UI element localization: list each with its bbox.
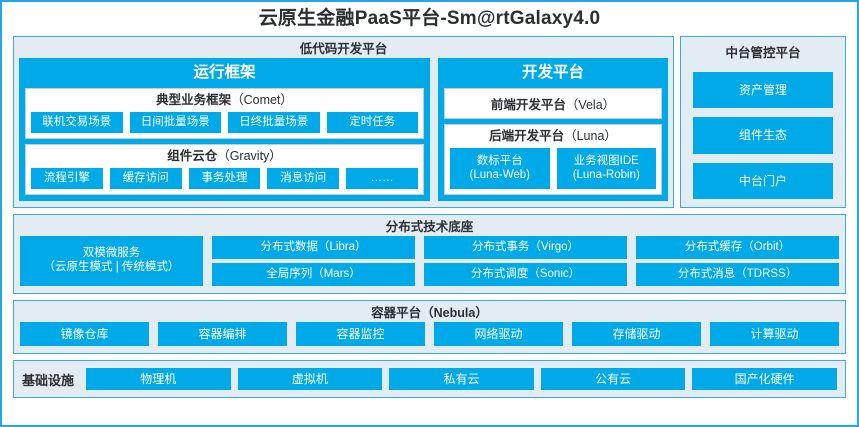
distributed-column-3: 分布式缓存（Orbit） 分布式消息（TDRSS） (636, 236, 839, 286)
backend-platform-title-cn: 后端开发平台 (489, 129, 564, 143)
container-item-storage-driver[interactable]: 存储驱动 (572, 322, 701, 346)
development-platform-panel: 开发平台 前端开发平台（Vela） 后端开发平台（Luna） 数标平台 (Lun… (438, 58, 668, 201)
development-platform-title: 开发平台 (444, 62, 662, 83)
comet-group: 典型业务框架（Comet） 联机交易场景 日间批量场景 日终批量场景 定时任务 (25, 88, 424, 139)
page-title: 云原生金融PaaS平台-Sm@rtGalaxy4.0 (2, 2, 857, 36)
midplatform-title: 中台管控平台 (693, 43, 833, 63)
distributed-cache-label: 分布式缓存（Orbit） (685, 241, 790, 255)
gravity-group-title-cn: 组件云仓 (167, 149, 217, 163)
comet-chip[interactable]: 定时任务 (327, 112, 419, 133)
midplatform-item-asset-management[interactable]: 资产管理 (693, 72, 833, 108)
lowcode-platform-title: 低代码开发平台 (19, 40, 668, 58)
luna-web-chip-en: (Luna-Web) (469, 169, 530, 183)
infrastructure-chip-row: 物理机 虚拟机 私有云 公有云 国产化硬件 (86, 368, 837, 390)
distributed-data-label: 分布式数据（Libra） (260, 241, 366, 255)
luna-robin-chip[interactable]: 业务视图IDE (Luna-Robin) (557, 148, 657, 189)
comet-chip[interactable]: 日间批量场景 (130, 112, 222, 133)
midplatform-item-component-ecosystem[interactable]: 组件生态 (693, 117, 833, 153)
infrastructure-item-public-cloud[interactable]: 公有云 (541, 368, 686, 390)
architecture-diagram: 云原生金融PaaS平台-Sm@rtGalaxy4.0 低代码开发平台 运行框架 … (0, 0, 859, 427)
midplatform-item-portal[interactable]: 中台门户 (693, 163, 833, 199)
frontend-platform-en: （Vela） (566, 94, 615, 113)
gravity-group-title: 组件云仓（Gravity） (31, 148, 418, 165)
luna-robin-chip-en: (Luna-Robin) (573, 169, 640, 183)
container-item-monitoring[interactable]: 容器监控 (296, 322, 425, 346)
comet-group-title-cn: 典型业务框架 (156, 93, 231, 107)
comet-chip-row: 联机交易场景 日间批量场景 日终批量场景 定时任务 (31, 112, 418, 133)
distributed-scheduling-label: 分布式调度（Sonic） (471, 268, 580, 282)
gravity-group: 组件云仓（Gravity） 流程引擎 缓存访问 事务处理 消息访问 …… (25, 144, 424, 195)
distributed-cache-card[interactable]: 分布式缓存（Orbit） (636, 236, 839, 259)
distributed-base-body: 双模微服务 （云原生模式 | 传统模式） 分布式数据（Libra） 全局序列（M… (20, 236, 839, 286)
container-platform-panel: 容器平台（Nebula） 镜像仓库 容器编排 容器监控 网络驱动 存储驱动 计算… (13, 300, 846, 354)
gravity-chip-more[interactable]: …… (346, 168, 418, 189)
midplatform-panel: 中台管控平台 资产管理 组件生态 中台门户 (680, 36, 846, 208)
dual-mode-microservice-card[interactable]: 双模微服务 （云原生模式 | 传统模式） (20, 236, 203, 286)
distributed-column-2: 分布式事务（Virgo） 分布式调度（Sonic） (424, 236, 627, 286)
gravity-chip[interactable]: 流程引擎 (31, 168, 103, 189)
runtime-framework-panel: 运行框架 典型业务框架（Comet） 联机交易场景 日间批量场景 日终批量场景 … (19, 58, 430, 201)
dual-mode-microservice-cn: 双模微服务 (83, 247, 141, 261)
comet-group-title: 典型业务框架（Comet） (31, 92, 418, 109)
luna-web-chip-cn: 数标平台 (477, 155, 523, 169)
distributed-message-card[interactable]: 分布式消息（TDRSS） (636, 263, 839, 286)
backend-platform-title: 后端开发平台（Luna） (450, 128, 656, 145)
dual-mode-microservice-en: （云原生模式 | 传统模式） (44, 261, 180, 275)
comet-chip[interactable]: 日终批量场景 (228, 112, 320, 133)
gravity-chip-row: 流程引擎 缓存访问 事务处理 消息访问 …… (31, 168, 418, 189)
comet-group-title-en: （Comet） (231, 93, 293, 107)
distributed-column-1: 分布式数据（Libra） 全局序列（Mars） (212, 236, 415, 286)
gravity-chip[interactable]: 消息访问 (267, 168, 339, 189)
container-item-image-registry[interactable]: 镜像仓库 (20, 322, 149, 346)
container-platform-title-en: （Nebula） (421, 306, 488, 320)
container-item-network-driver[interactable]: 网络驱动 (434, 322, 563, 346)
luna-robin-chip-cn: 业务视图IDE (574, 155, 639, 169)
luna-web-chip[interactable]: 数标平台 (Luna-Web) (450, 148, 550, 189)
runtime-framework-title: 运行框架 (25, 62, 424, 83)
infrastructure-item-domestic-hardware[interactable]: 国产化硬件 (692, 368, 837, 390)
distributed-transaction-label: 分布式事务（Virgo） (472, 241, 579, 255)
top-row: 低代码开发平台 运行框架 典型业务框架（Comet） 联机交易场景 日间批量场景… (2, 36, 857, 208)
container-item-orchestration[interactable]: 容器编排 (158, 322, 287, 346)
infrastructure-item-virtual-machine[interactable]: 虚拟机 (238, 368, 383, 390)
lowcode-platform-body: 运行框架 典型业务框架（Comet） 联机交易场景 日间批量场景 日终批量场景 … (19, 58, 668, 201)
distributed-transaction-card[interactable]: 分布式事务（Virgo） (424, 236, 627, 259)
distributed-scheduling-card[interactable]: 分布式调度（Sonic） (424, 263, 627, 286)
gravity-chip[interactable]: 缓存访问 (110, 168, 182, 189)
global-sequence-label: 全局序列（Mars） (266, 268, 361, 282)
backend-chip-row: 数标平台 (Luna-Web) 业务视图IDE (Luna-Robin) (450, 148, 656, 189)
global-sequence-card[interactable]: 全局序列（Mars） (212, 263, 415, 286)
container-platform-title-cn: 容器平台 (371, 306, 421, 320)
distributed-message-label: 分布式消息（TDRSS） (678, 268, 797, 282)
container-chip-row: 镜像仓库 容器编排 容器监控 网络驱动 存储驱动 计算驱动 (20, 322, 839, 346)
lowcode-platform-panel: 低代码开发平台 运行框架 典型业务框架（Comet） 联机交易场景 日间批量场景… (13, 36, 674, 208)
gravity-chip[interactable]: 事务处理 (189, 168, 261, 189)
backend-platform-title-en: （Luna） (564, 129, 617, 143)
distributed-data-card[interactable]: 分布式数据（Libra） (212, 236, 415, 259)
frontend-platform-cn: 前端开发平台 (491, 94, 566, 113)
distributed-base-panel: 分布式技术底座 双模微服务 （云原生模式 | 传统模式） 分布式数据（Libra… (13, 214, 846, 294)
infrastructure-label: 基础设施 (22, 370, 77, 389)
backend-platform-group: 后端开发平台（Luna） 数标平台 (Luna-Web) 业务视图IDE (Lu… (444, 124, 662, 195)
container-item-compute-driver[interactable]: 计算驱动 (710, 322, 839, 346)
gravity-group-title-en: （Gravity） (217, 149, 282, 163)
frontend-platform-box[interactable]: 前端开发平台（Vela） (444, 88, 662, 119)
comet-chip[interactable]: 联机交易场景 (31, 112, 123, 133)
dual-mode-microservice-wrapper: 双模微服务 （云原生模式 | 传统模式） (20, 236, 203, 286)
infrastructure-panel: 基础设施 物理机 虚拟机 私有云 公有云 国产化硬件 (13, 360, 846, 398)
infrastructure-item-physical-machine[interactable]: 物理机 (86, 368, 231, 390)
infrastructure-item-private-cloud[interactable]: 私有云 (389, 368, 534, 390)
container-platform-title: 容器平台（Nebula） (20, 304, 839, 322)
distributed-base-title: 分布式技术底座 (20, 218, 839, 236)
